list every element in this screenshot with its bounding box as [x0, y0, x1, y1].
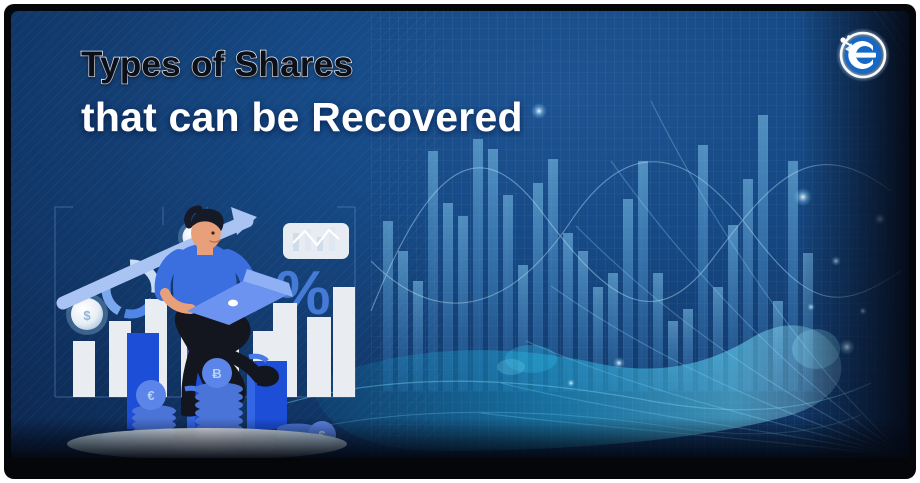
- foreground-white-bars: [73, 287, 355, 397]
- dollar-coin-sphere: $: [66, 293, 108, 335]
- coin-pile-small: [171, 438, 276, 452]
- light-rays: [481, 101, 909, 458]
- trend-curves: [371, 162, 901, 311]
- svg-text:$: $: [83, 308, 91, 323]
- illustration-corner-brackets: [55, 207, 355, 397]
- enterslice-e-logo[interactable]: [829, 23, 891, 85]
- coin-stacks: €: [101, 358, 336, 452]
- svg-text:Ƀ: Ƀ: [212, 366, 221, 381]
- banner-root: $ $: [0, 0, 920, 483]
- coin-stack-bitcoin: Ƀ: [195, 358, 243, 452]
- svg-text:$: $: [318, 428, 326, 443]
- foreground-blue-bars: [127, 311, 287, 429]
- banner-canvas: $ $: [11, 11, 909, 458]
- bottom-edge-vignette: [11, 418, 909, 458]
- dollar-badge-sphere: $: [178, 207, 212, 254]
- ground-platform: [67, 428, 347, 458]
- headline-block: Types of Shares that can be Recovered: [81, 47, 523, 139]
- banner-frame: $ $: [4, 4, 916, 479]
- svg-text:%: %: [275, 259, 330, 328]
- svg-text:$: $: [192, 233, 198, 245]
- growth-arrow: [63, 207, 257, 303]
- title-line-1: Types of Shares: [81, 47, 523, 84]
- bar-line-chart-card: [283, 223, 349, 259]
- percent-symbol: %: [275, 259, 330, 328]
- coin-stack-dollar: $: [277, 421, 336, 449]
- donut-chart: [97, 255, 165, 323]
- glowing-hand-wave: [261, 325, 871, 451]
- sparkle-dots: [531, 103, 886, 387]
- svg-text:€: €: [147, 388, 154, 403]
- background-bar-chart: [383, 115, 813, 391]
- coin-stack-euro: €: [101, 380, 176, 448]
- title-line-2: that can be Recovered: [81, 96, 523, 139]
- person-figure: [163, 209, 293, 417]
